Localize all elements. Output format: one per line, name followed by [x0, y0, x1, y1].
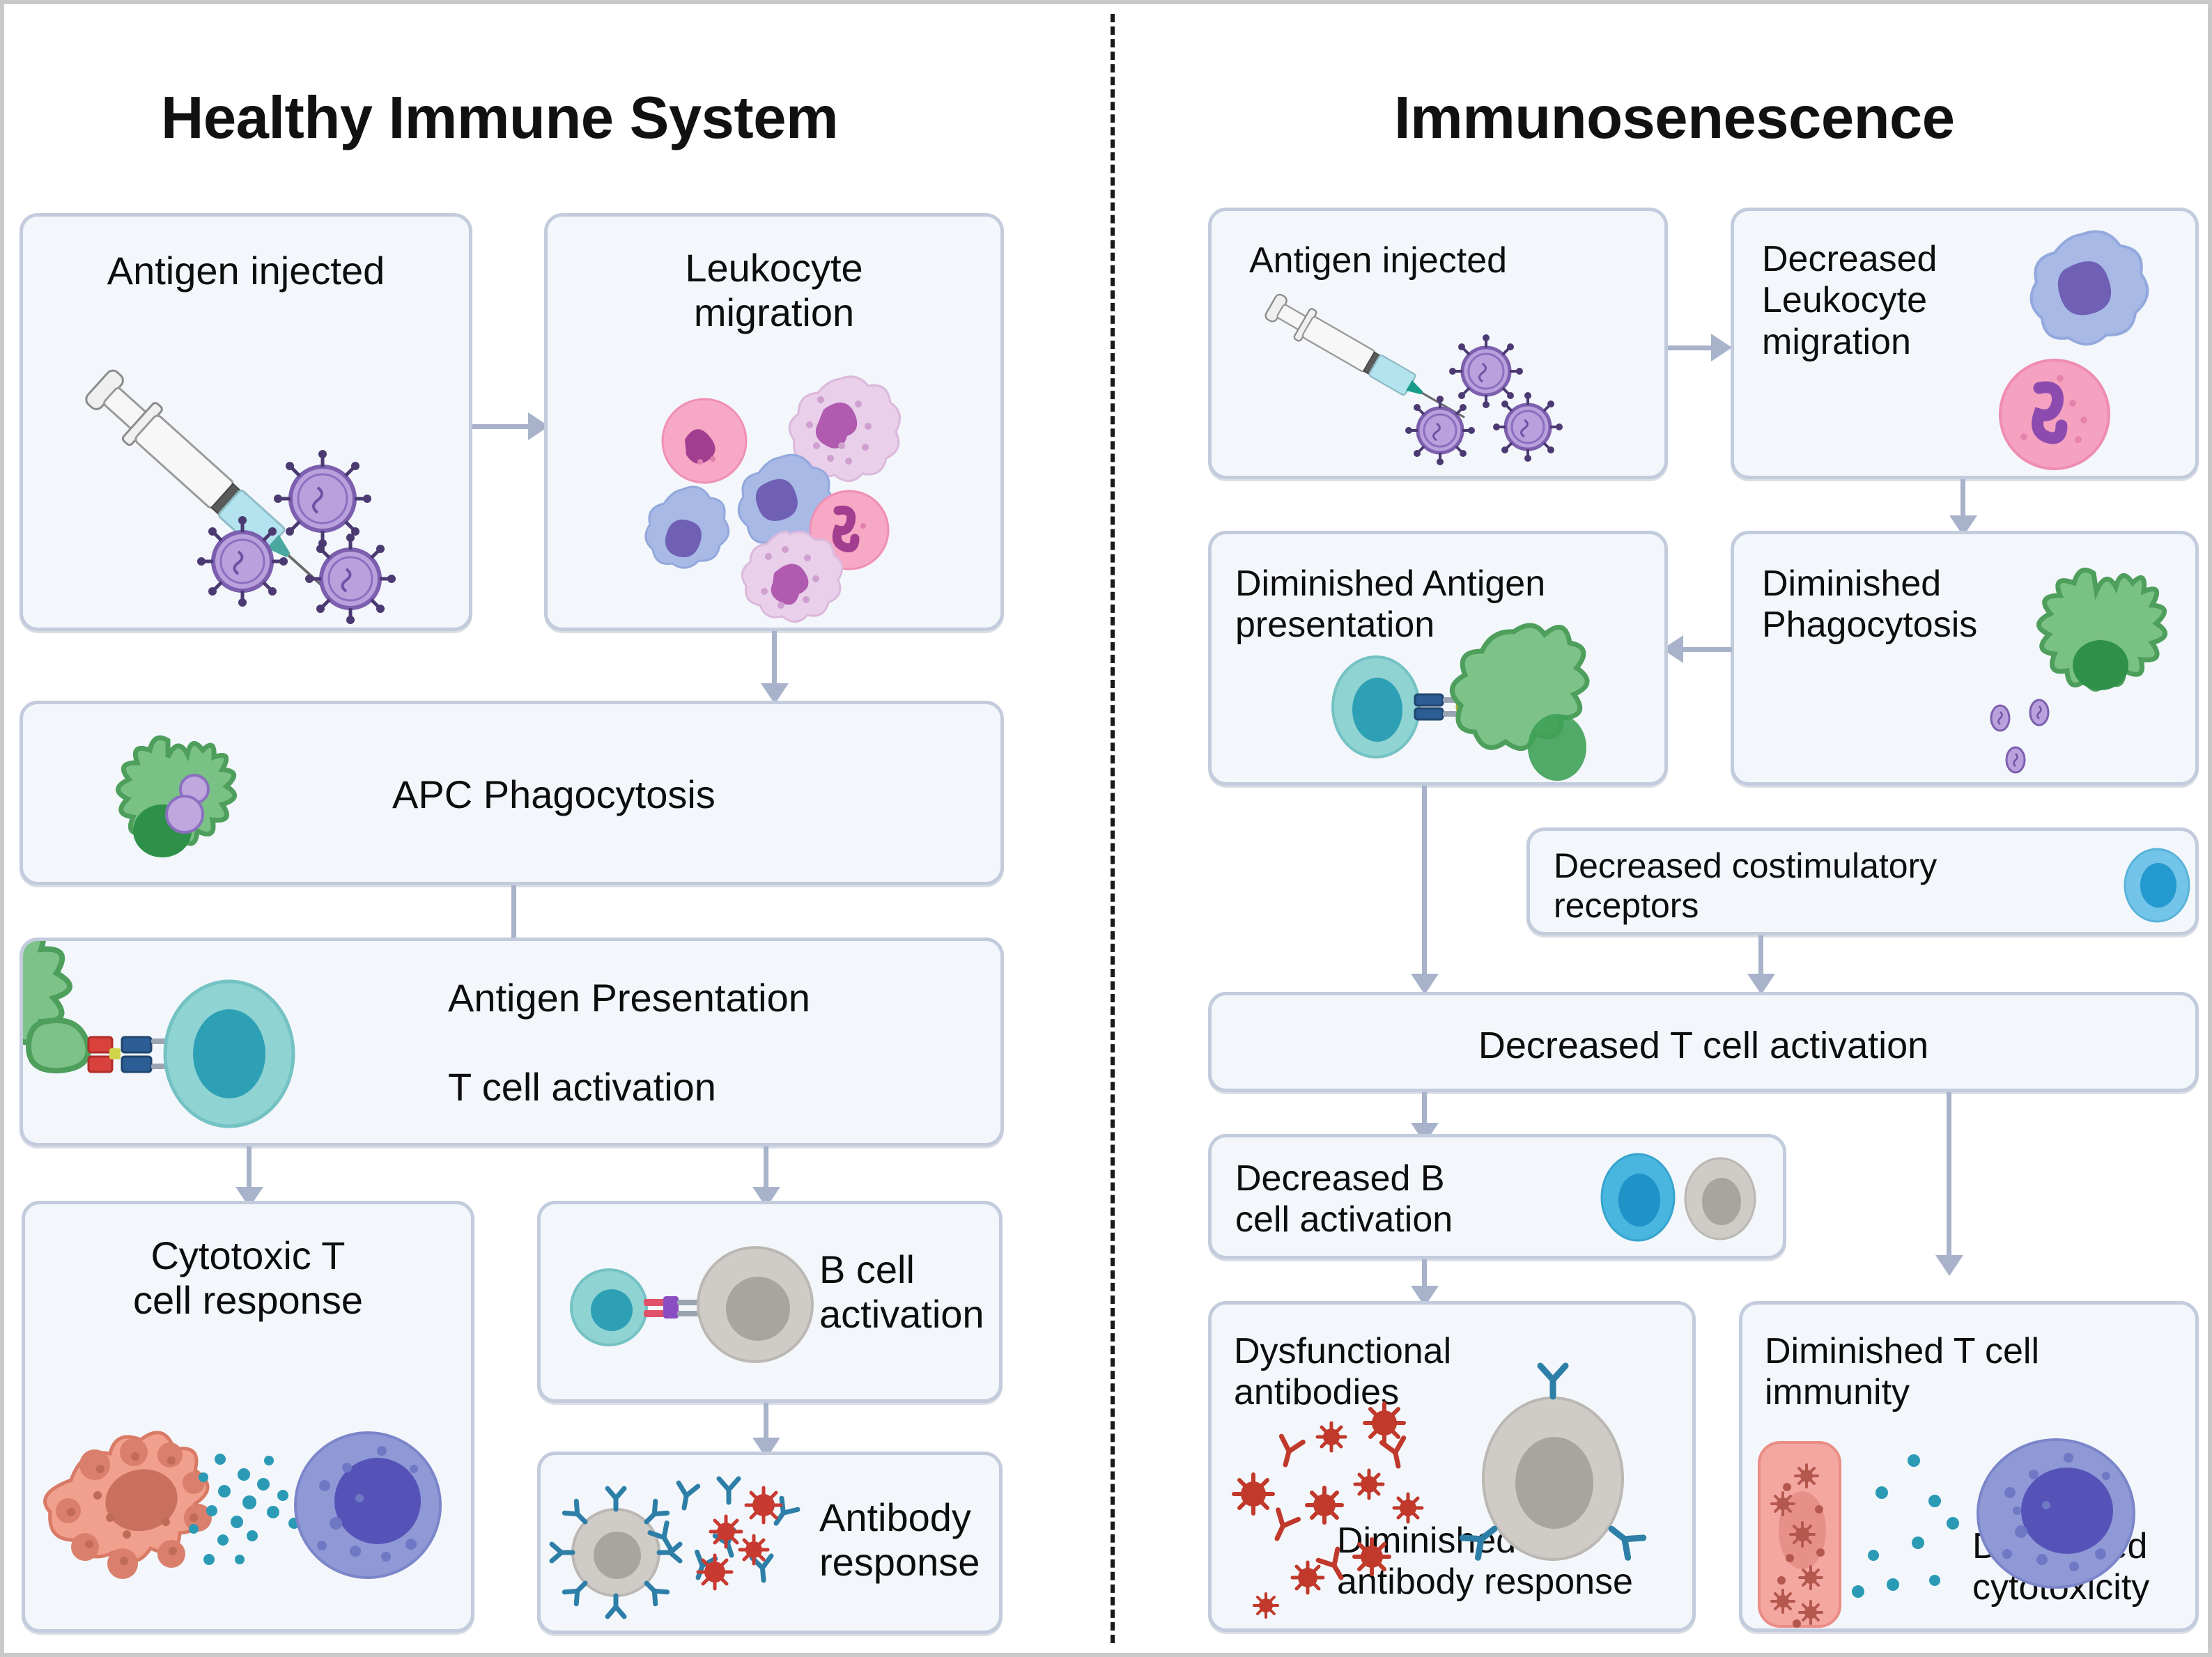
node-diminished-t-cell-immunity[interactable]: Diminished T cell immunity Decreased cyt…: [1739, 1301, 2199, 1632]
node-antigen-injected[interactable]: Antigen injected: [20, 213, 472, 631]
node-cytotoxic-t-response[interactable]: Cytotoxic T cell response: [22, 1201, 474, 1633]
dendritic-cell-engulfing-art: [56, 719, 286, 928]
page-title-immunosenescence: Immunosenescence: [1394, 84, 1955, 153]
node-label: B cell activation: [819, 1247, 984, 1337]
figure-canvas: Healthy Immune System Immunosenescence A…: [0, 0, 2212, 1657]
edge-leukocyte2-to-phagocytosis: [1960, 479, 1965, 521]
two-leukocytes-art: [1971, 225, 2194, 476]
node-antigen-presentation[interactable]: Antigen Presentation T cell activation: [20, 938, 1004, 1146]
arrowhead-down: [1935, 1255, 1963, 1276]
plasma-cell-antibodies-art: [555, 1475, 833, 1621]
node-decreased-t-cell-activation[interactable]: Decreased T cell activation: [1208, 992, 2199, 1092]
edge-tactivation-to-tcell-immunity: [1947, 1092, 1951, 1261]
tcell-mhc-apc-art: [1330, 632, 1668, 786]
edge-antigen2-to-leukocyte: [1668, 345, 1717, 350]
dendritic-cell-with-free-virus-art: [1943, 559, 2194, 782]
edge-antigen-to-leukocyte: [472, 424, 534, 429]
node-decreased-leukocyte-migration[interactable]: Decreased Leukocyte migration: [1731, 208, 2199, 479]
node-decreased-b-cell-activation[interactable]: Decreased B cell activation: [1208, 1134, 1786, 1259]
node-label: Cytotoxic T cell response: [25, 1234, 471, 1323]
edge-phagocytosis-to-presentation: [1683, 647, 1732, 652]
node-label: Decreased costimulatory receptors: [1554, 846, 1937, 926]
edge-presentation2-to-tactivation: [1422, 786, 1427, 979]
node-label: Leukocyte migration: [548, 246, 1000, 335]
node-diminished-phagocytosis[interactable]: Diminished Phagocytosis: [1731, 531, 2199, 786]
edge-costim-to-tactivation: [1758, 935, 1763, 979]
infected-cell-and-ctl-art: [40, 1392, 458, 1615]
node-antigen-injected-2[interactable]: Antigen injected: [1208, 208, 1668, 479]
syringe-and-viruses-art-2: [1237, 295, 1641, 483]
node-label: Decreased B cell activation: [1235, 1158, 1453, 1241]
node-label: Decreased Leukocyte migration: [1762, 239, 1937, 363]
edge-leukocyte-to-apc: [772, 631, 777, 690]
node-b-cell-activation[interactable]: B cell activation: [537, 1201, 1003, 1403]
infected-cell-and-weak-ctl-art: [1756, 1437, 2188, 1632]
node-label: Antigen injected: [1249, 240, 1507, 281]
edge-presentation-to-bcell: [764, 1146, 768, 1192]
tcell-bcell-pair-art: [563, 1238, 828, 1377]
single-blue-cell-art: [2119, 845, 2195, 928]
page-title-healthy: Healthy Immune System: [161, 84, 838, 153]
red-antibodies-and-viruses-art: [1225, 1402, 1699, 1632]
blue-cell-and-gray-cell-art: [1595, 1147, 1776, 1252]
node-label-dysfunctional-antibodies: Dysfunctional antibodies: [1234, 1331, 1451, 1414]
syringe-and-viruses-art: [44, 321, 462, 621]
edge-presentation-to-cytotoxic: [247, 1146, 252, 1192]
node-decreased-costimulatory-receptors[interactable]: Decreased costimulatory receptors: [1526, 827, 2199, 935]
node-label-t-cell-activation: T cell activation: [448, 1065, 716, 1110]
node-label: Decreased T cell activation: [1212, 1025, 2195, 1068]
node-antibody-response[interactable]: Antibody response: [537, 1452, 1003, 1634]
node-label: Antigen injected: [23, 249, 469, 293]
arrowhead-right: [1711, 334, 1732, 361]
node-dysfunctional-antibodies[interactable]: Dysfunctional antibodies Diminished anti…: [1208, 1301, 1696, 1632]
node-label-antigen-presentation: Antigen Presentation: [448, 976, 810, 1020]
node-label: APC Phagocytosis: [392, 772, 716, 817]
apc-mhc-tcr-tcell-art: [20, 938, 427, 1146]
panel-divider: [1111, 14, 1115, 1643]
node-diminished-antigen-presentation[interactable]: Diminished Antigen presentation: [1208, 531, 1668, 786]
node-label: Antibody response: [819, 1495, 980, 1585]
node-label-diminished-t-cell-immunity: Diminished T cell immunity: [1765, 1331, 2039, 1414]
node-leukocyte-migration[interactable]: Leukocyte migration: [544, 213, 1004, 631]
leukocyte-cluster-art: [628, 371, 934, 615]
node-apc-phagocytosis[interactable]: APC Phagocytosis: [20, 701, 1004, 885]
